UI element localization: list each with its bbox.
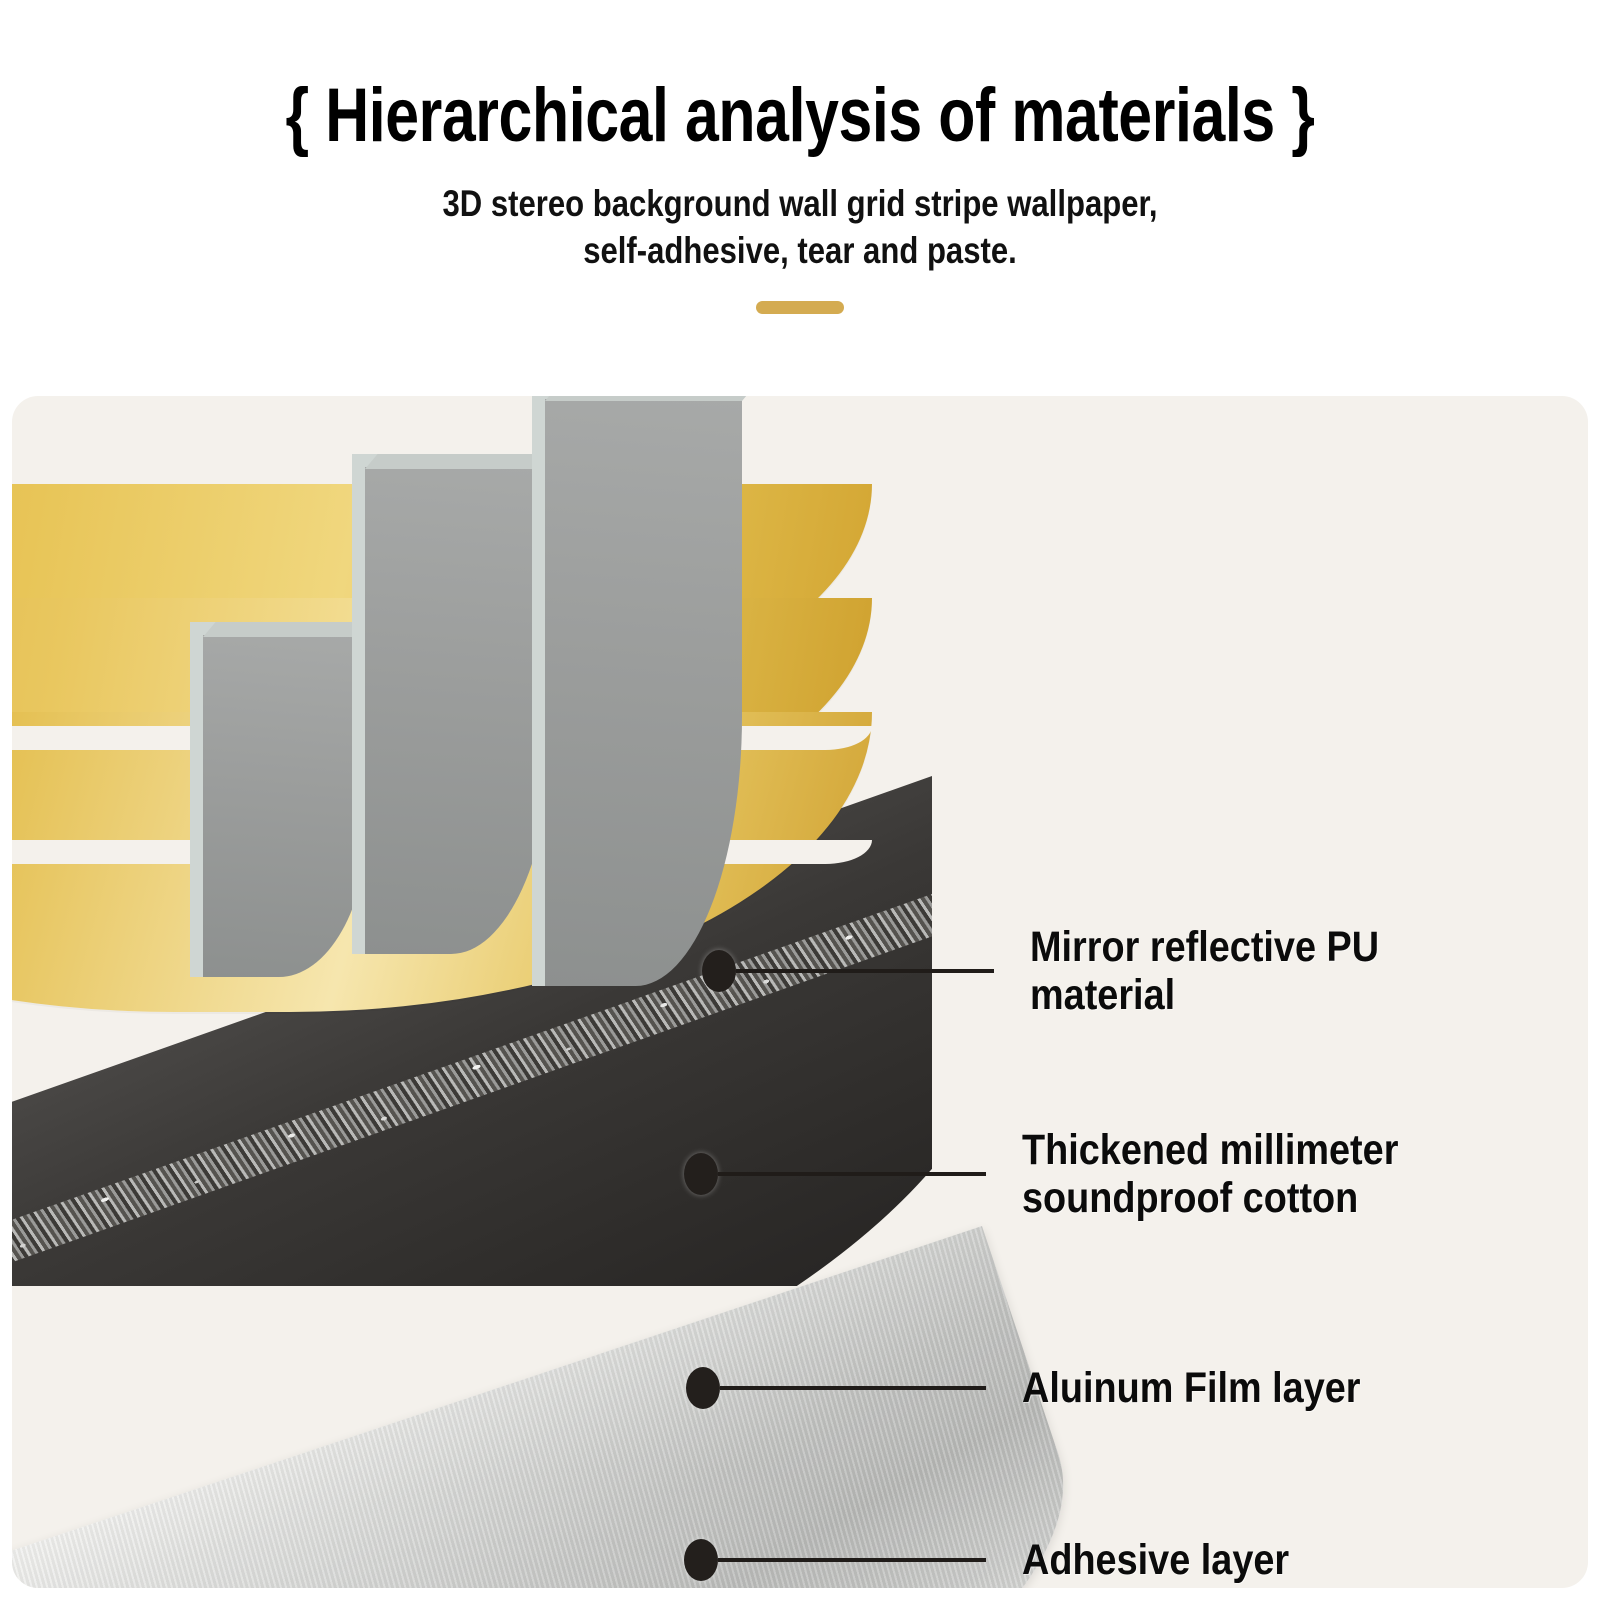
pu-flap-1 xyxy=(190,622,368,977)
callout-leader-line xyxy=(736,969,994,973)
callout-thickened-millimeter-soundproof-cotton[interactable]: Thickened millimeter soundproof cotton xyxy=(684,1126,1450,1222)
illustration-stage: ⸢⸣ ⸢⸣ ⸢⸣ xyxy=(12,396,1588,1588)
callout-leader-line xyxy=(720,1386,986,1390)
divider-container xyxy=(0,301,1600,314)
page-header: { Hierarchical analysis of materials } 3… xyxy=(0,0,1600,314)
callout-dot-icon xyxy=(684,1539,718,1581)
callout-leader-line xyxy=(718,1558,986,1562)
pu-flap-2 xyxy=(352,454,552,954)
callout-leader-line xyxy=(718,1172,986,1176)
callout-label: Aluinum Film layer xyxy=(1022,1364,1361,1412)
pu-flap-3-top xyxy=(545,396,755,401)
material-layers-card: ⸢⸣ ⸢⸣ ⸢⸣ xyxy=(12,396,1588,1588)
pu-flap-1-face xyxy=(203,635,368,977)
subtitle-line-2: self-adhesive, tear and paste. xyxy=(128,227,1472,274)
pu-flap-3-face xyxy=(545,399,742,986)
subtitle-line-1: 3D stereo background wall grid stripe wa… xyxy=(128,180,1472,227)
pu-flap-2-face xyxy=(365,467,552,954)
pu-flap-3 xyxy=(532,396,742,986)
callout-label: Adhesive layer xyxy=(1022,1536,1289,1584)
gold-divider xyxy=(756,301,844,314)
callout-dot-icon xyxy=(684,1153,718,1195)
page-title: { Hierarchical analysis of materials } xyxy=(160,78,1440,154)
callout-label: Thickened millimeter soundproof cotton xyxy=(1022,1126,1398,1222)
page-subtitle: 3D stereo background wall grid stripe wa… xyxy=(128,154,1472,275)
callout-dot-icon xyxy=(702,950,736,992)
callout-adhesive-layer[interactable]: Adhesive layer xyxy=(684,1536,1326,1584)
callout-aluinum-film-layer[interactable]: Aluinum Film layer xyxy=(686,1364,1407,1412)
callout-dot-icon xyxy=(686,1367,720,1409)
callout-mirror-reflective-pu-material[interactable]: Mirror reflective PU material xyxy=(702,923,1588,1019)
callout-label: Mirror reflective PU material xyxy=(1030,923,1521,1019)
